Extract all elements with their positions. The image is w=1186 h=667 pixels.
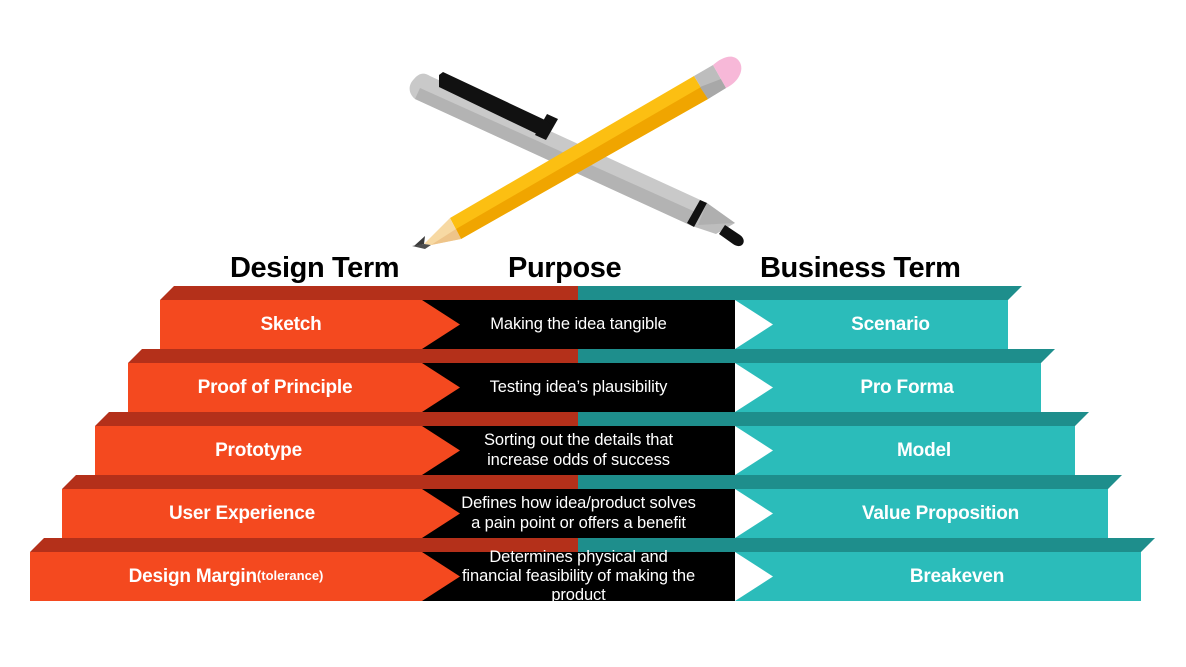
row-bevel-right xyxy=(578,412,1089,426)
crossed-pen-and-pencil-illustration xyxy=(395,55,755,250)
row-business-bar xyxy=(735,300,1008,349)
column-heading-purpose: Purpose xyxy=(508,252,621,285)
row-center-face xyxy=(422,300,735,349)
row-center-face xyxy=(422,489,735,538)
pyramid-row-shape xyxy=(0,475,1186,540)
row-design-bar xyxy=(95,426,460,475)
column-heading-design-term: Design Term xyxy=(230,252,399,285)
row-business-bar xyxy=(735,426,1075,475)
row-business-bar xyxy=(735,552,1141,601)
row-business-bar xyxy=(735,363,1041,412)
infographic-canvas: Design Term Purpose Business Term Sketch… xyxy=(0,0,1186,667)
pyramid-row-shape xyxy=(0,349,1186,414)
row-center-face xyxy=(422,363,735,412)
pyramid-row-shape xyxy=(0,538,1186,603)
row-design-bar xyxy=(30,552,460,601)
row-bevel-left xyxy=(30,538,578,552)
column-heading-business-term: Business Term xyxy=(760,252,961,285)
pen-pencil-svg xyxy=(395,55,755,250)
row-design-bar xyxy=(62,489,460,538)
row-bevel-right xyxy=(578,286,1022,300)
row-design-bar xyxy=(128,363,460,412)
row-bevel-left xyxy=(95,412,578,426)
row-center-face xyxy=(422,552,735,601)
pyramid-row-shape xyxy=(0,412,1186,477)
row-bevel-left xyxy=(160,286,578,300)
row-bevel-right xyxy=(578,475,1122,489)
row-bevel-left xyxy=(62,475,578,489)
row-bevel-right xyxy=(578,349,1055,363)
row-design-bar xyxy=(160,300,460,349)
pyramid-steps: SketchMaking the idea tangibleScenarioPr… xyxy=(0,286,1186,616)
row-center-face xyxy=(422,426,735,475)
pyramid-row-shape xyxy=(0,286,1186,351)
row-bevel-right xyxy=(578,538,1155,552)
row-business-bar xyxy=(735,489,1108,538)
row-bevel-left xyxy=(128,349,578,363)
